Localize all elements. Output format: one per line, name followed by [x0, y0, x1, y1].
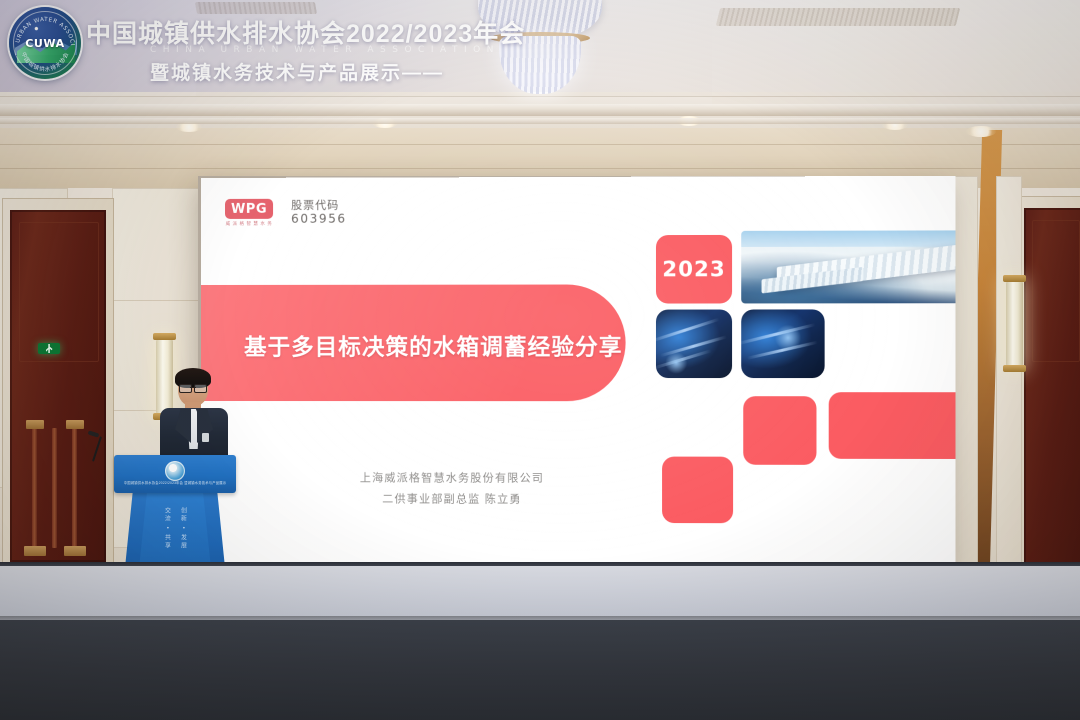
ceiling-downlight-5 [966, 126, 996, 137]
year-badge-2023: 2023 [656, 235, 732, 304]
wall-panel-seam-1 [112, 300, 204, 301]
door-panel-upper-right [1032, 220, 1080, 362]
decor-red-block-1 [743, 396, 816, 465]
door-cap-1 [26, 420, 44, 429]
door-left[interactable] [10, 210, 106, 562]
podium-vtext-left: 创新 • 发展 [179, 507, 188, 550]
door-cap-2 [66, 420, 84, 429]
podium-vtext-right: 交流 • 共享 [163, 507, 172, 550]
wall-sconce-right-base [1003, 365, 1026, 372]
banner-subtitle: 暨城镇水务技术与产品展示—— [150, 58, 444, 85]
banner-title-english: CHINA URBAN WATER ASSOCIATION [150, 45, 500, 55]
wpg-logo-text: WPG [231, 201, 267, 216]
header-banner-overlay: 中国城镇供水排水协会2022/2023年会 CHINA URBAN WATER … [0, 0, 1080, 92]
blue-tech-photo-2 [741, 309, 824, 378]
cuwa-logo-text: CUWA [25, 37, 65, 50]
aerial-factory-photo [741, 230, 955, 303]
stock-code-label: 股票代码 [291, 197, 339, 213]
cuwa-logo: CHINA URBAN WATER ASSOCIATION 中国城镇供水排水协会… [9, 7, 81, 79]
cornice-molding [0, 104, 1080, 116]
byline-company: 上海威派格智慧水务股份有限公司 [201, 468, 705, 490]
door-panel-upper [19, 222, 99, 362]
door-right[interactable] [1024, 208, 1080, 564]
podium-top-panel: 中国城镇供水排水协会2022/2023年会 暨城镇水务技术与产品展示 [114, 455, 236, 493]
slide-title: 基于多目标决策的水箱调蓄经验分享 [244, 330, 667, 362]
cornice-molding-2 [0, 118, 1080, 124]
door-base-2 [64, 546, 86, 556]
blue-tech-photo-1 [656, 310, 732, 379]
wall-sconce-left-cap [153, 333, 176, 340]
exit-sign [38, 343, 60, 354]
podium-vertical-text: 交流 • 共享 创新 • 发展 [163, 507, 188, 550]
speaker-name-badge [202, 433, 209, 442]
slide-byline: 上海威派格智慧水务股份有限公司 二供事业部副总监 陈立勇 [201, 468, 705, 511]
exit-running-man-icon [46, 344, 53, 353]
podium-header-text: 中国城镇供水排水协会2022/2023年会 暨城镇水务技术与产品展示 [114, 481, 236, 486]
door-base-1 [24, 546, 46, 556]
wall-sconce-right [1006, 280, 1023, 368]
door-slat-1 [32, 428, 37, 548]
wall-sconce-right-cap [1003, 275, 1026, 282]
byline-presenter: 二供事业部副总监 陈立勇 [201, 489, 705, 511]
door-slat-2 [52, 428, 57, 548]
wpg-company-logo: WPG [225, 199, 273, 219]
door-slat-3 [72, 428, 77, 548]
stage-skirt [0, 620, 1080, 720]
presentation-slide[interactable]: WPG 威 派 格 智 慧 水 务 股票代码 603956 基于多目标决策的水箱… [201, 176, 955, 567]
screenshot-root: WPG 威 派 格 智 慧 水 务 股票代码 603956 基于多目标决策的水箱… [0, 0, 1080, 720]
stock-code-value: 603956 [291, 212, 347, 226]
year-badge-label: 2023 [662, 257, 725, 281]
speaker-glasses [179, 384, 207, 391]
decor-red-block-2 [829, 392, 956, 459]
svg-text:中国城镇供水排水协会: 中国城镇供水排水协会 [20, 51, 71, 73]
stage-platform [0, 566, 1080, 622]
wpg-logo-subtext: 威 派 格 智 慧 水 务 [225, 221, 273, 227]
decor-red-block-3 [662, 457, 733, 524]
cuwa-emblem-podium-icon [165, 461, 185, 481]
